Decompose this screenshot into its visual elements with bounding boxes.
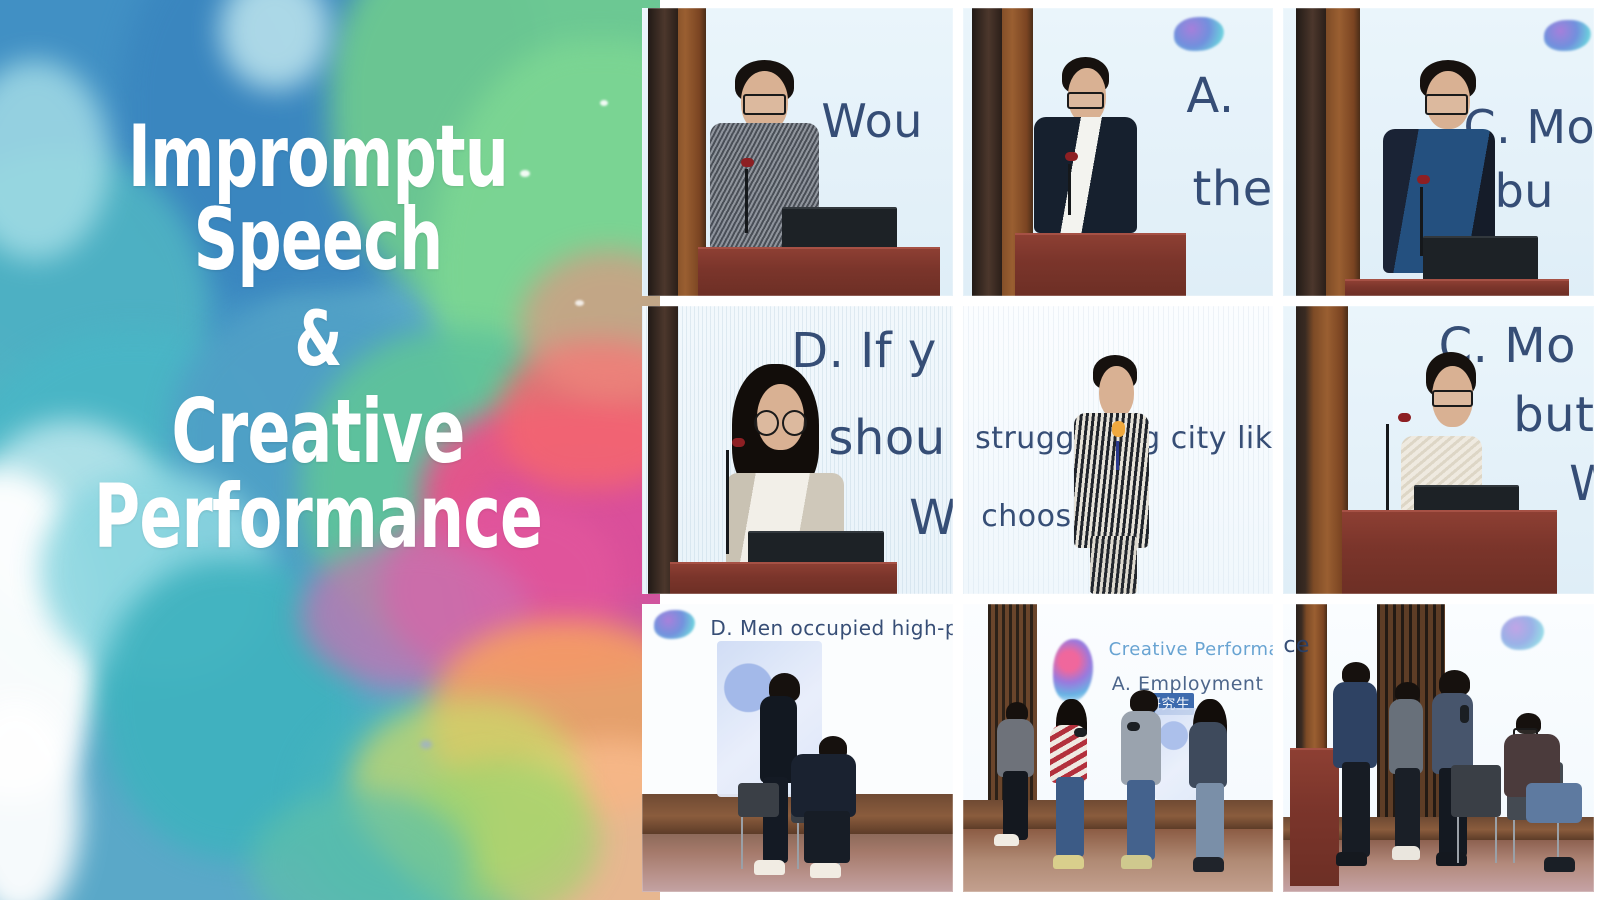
photo-cell-2: A. the [963,8,1274,296]
photo-cell-8: Creative Performance A. Employment 研究生 [963,604,1274,892]
title-line-5: Performance [64,477,573,558]
slide-text-4b: shou [828,410,945,466]
photo-cell-3: C. Mo bu [1283,8,1594,296]
title-line-2: Speech [64,201,573,280]
slide-text-2b: the [1193,161,1273,217]
title-line-1: Impromptu [64,118,573,197]
slide-text-9: ce [1283,633,1310,658]
slide-text-6b: but [1513,387,1594,443]
title-ampersand: & [64,304,573,374]
slide-text-8a: Creative Performance [1109,639,1274,660]
slide-text-3b: bu [1495,164,1554,218]
photo-cell-9: ce [1283,604,1594,892]
title-line-4: Creative [64,392,573,473]
photo-cell-4: D. If y shou W [642,306,953,594]
slide-text-7: D. Men occupied high-p [710,616,952,640]
slide-text-4a: D. If y [791,323,937,379]
slide-text-2a: A. [1186,68,1234,124]
slide-text-4c: W [909,490,953,546]
photo-cell-1: . Wou [642,8,953,296]
photo-cell-7: D. Men occupied high-p [642,604,953,892]
photo-cell-6: C. Mo but W [1283,306,1594,594]
poster-root: Impromptu Speech & Creative Performance … [0,0,1600,900]
slide-text-6c: W [1569,456,1594,512]
poster-title: Impromptu Speech & Creative Performance [0,118,636,558]
photo-cell-5: struggle big city lik choosi b? [963,306,1274,594]
photo-grid: . Wou A. the [638,0,1600,900]
